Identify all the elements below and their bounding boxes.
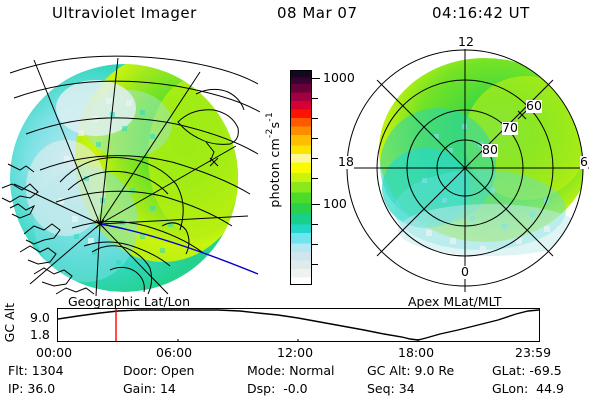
observation-time: 04:16:42 UT bbox=[432, 4, 530, 22]
status-dsp-label: Dsp: bbox=[247, 381, 275, 396]
mlt-label-12: 12 bbox=[458, 36, 474, 49]
colorbar-tick bbox=[312, 178, 318, 179]
colorbar-tick bbox=[312, 158, 318, 159]
mlat-ring-label-60: 60 bbox=[526, 100, 542, 113]
status-door-label: Door: bbox=[123, 363, 157, 378]
status-mode: Mode: Normal bbox=[247, 363, 335, 378]
observation-date: 08 Mar 07 bbox=[277, 4, 358, 22]
status-dsp: Dsp: -0.0 bbox=[247, 381, 308, 396]
colorbar-axis-title: photon cm-2s-1 bbox=[265, 112, 283, 208]
apex-plot-svg bbox=[330, 38, 600, 296]
status-door: Door: Open bbox=[123, 363, 194, 378]
geographic-plot-svg bbox=[0, 38, 262, 296]
colorbar-tick bbox=[312, 138, 318, 139]
status-gain: Gain: 14 bbox=[123, 381, 176, 396]
status-gcalt-value: 9.0 Re bbox=[415, 363, 455, 378]
apex-aurora-layer bbox=[379, 58, 591, 256]
timeline-tick-1200: 12:00 bbox=[277, 345, 313, 360]
colorbar: 1000 100 bbox=[290, 70, 312, 285]
timeline-tick-2359: 23:59 bbox=[515, 345, 551, 360]
timeline-y-axis-label: GC Alt bbox=[2, 303, 18, 342]
colorbar-tick-100 bbox=[312, 204, 320, 205]
status-flight-label: Flt: bbox=[8, 363, 28, 378]
status-dsp-value: -0.0 bbox=[283, 381, 307, 396]
timeline-tick-0000: 00:00 bbox=[36, 345, 72, 360]
status-gcalt-label: GC Alt: bbox=[367, 363, 411, 378]
geographic-panel bbox=[0, 38, 262, 296]
colorbar-gradient bbox=[290, 70, 312, 285]
colorbar-tick bbox=[312, 118, 318, 119]
status-seq-label: Seq: bbox=[367, 381, 395, 396]
status-glon-label: GLon: bbox=[492, 381, 528, 396]
status-glon: GLon: 44.9 bbox=[492, 381, 564, 396]
status-gain-value: 14 bbox=[160, 381, 176, 396]
colorbar-tick bbox=[312, 224, 318, 225]
header: Ultraviolet Imager 08 Mar 07 04:16:42 UT bbox=[0, 4, 600, 30]
mlat-ring-label-70: 70 bbox=[502, 122, 518, 135]
instrument-title: Ultraviolet Imager bbox=[52, 4, 197, 22]
colorbar-tick bbox=[312, 98, 318, 99]
colorbar-tick bbox=[312, 264, 318, 265]
status-flight: Flt: 1304 bbox=[8, 363, 64, 378]
left-panel-caption: Geographic Lat/Lon bbox=[68, 294, 190, 309]
timeline-tick-0600: 06:00 bbox=[156, 345, 192, 360]
status-glat-value: -69.5 bbox=[529, 363, 561, 378]
right-panel-caption: Apex MLat/MLT bbox=[408, 294, 502, 309]
orbit-altitude-timeline[interactable] bbox=[57, 308, 540, 342]
status-glat: GLat: -69.5 bbox=[492, 363, 562, 378]
status-flight-value: 1304 bbox=[32, 363, 64, 378]
status-seq: Seq: 34 bbox=[367, 381, 415, 396]
status-mode-label: Mode: bbox=[247, 363, 285, 378]
mlt-label-6: 6 bbox=[580, 156, 588, 169]
timeline-y-max-label: 9.0 bbox=[30, 310, 50, 325]
ultraviolet-imager-window: Ultraviolet Imager 08 Mar 07 04:16:42 UT bbox=[0, 0, 600, 400]
timeline-svg bbox=[58, 309, 539, 341]
mlat-ring-label-80: 80 bbox=[482, 144, 498, 157]
status-door-value: Open bbox=[161, 363, 194, 378]
status-seq-value: 34 bbox=[399, 381, 415, 396]
timeline-y-min-label: 1.8 bbox=[30, 327, 50, 342]
apex-mlat-mlt-panel: 12 18 6 0 60 70 80 bbox=[330, 38, 600, 296]
colorbar-axis-title-text: photon cm-2s-1 bbox=[267, 112, 282, 208]
status-glat-label: GLat: bbox=[492, 363, 525, 378]
status-ip: IP: 36.0 bbox=[8, 381, 55, 396]
status-ip-label: IP: bbox=[8, 381, 23, 396]
status-gcalt: GC Alt: 9.0 Re bbox=[367, 363, 454, 378]
status-glon-value: 44.9 bbox=[536, 381, 564, 396]
status-bar: Flt: 1304 IP: 36.0 Door: Open Gain: 14 M… bbox=[0, 363, 600, 399]
colorbar-tick-1000 bbox=[312, 78, 320, 79]
apex-graticule bbox=[341, 44, 589, 292]
status-gain-label: Gain: bbox=[123, 381, 156, 396]
status-mode-value: Normal bbox=[289, 363, 334, 378]
timeline-x-tickmarks bbox=[178, 339, 418, 341]
mlt-label-18: 18 bbox=[338, 156, 354, 169]
altitude-track bbox=[58, 310, 539, 340]
colorbar-tick bbox=[312, 244, 318, 245]
timeline-tick-1800: 18:00 bbox=[398, 345, 434, 360]
mlt-label-0: 0 bbox=[461, 266, 469, 279]
status-ip-value: 36.0 bbox=[27, 381, 55, 396]
